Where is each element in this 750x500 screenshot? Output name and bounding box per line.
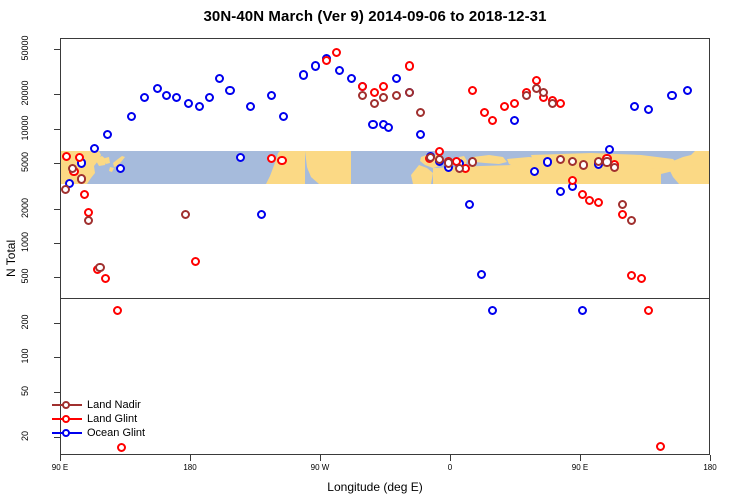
threshold-divider-line	[61, 298, 709, 299]
data-point	[568, 176, 577, 185]
x-axis-tick	[60, 455, 61, 461]
data-point	[585, 196, 594, 205]
x-axis-tick-label: 90 E	[550, 463, 610, 472]
data-point	[578, 306, 587, 315]
data-point	[644, 105, 653, 114]
data-point	[195, 102, 204, 111]
data-point	[358, 82, 367, 91]
x-axis-tick	[320, 455, 321, 461]
y-axis-label: N Total	[4, 239, 18, 276]
data-point	[61, 185, 70, 194]
y-axis-tick	[54, 94, 60, 95]
data-point	[568, 157, 577, 166]
data-point	[379, 82, 388, 91]
data-point	[335, 66, 344, 75]
data-point	[594, 198, 603, 207]
data-point	[322, 56, 331, 65]
legend-marker-icon	[52, 413, 82, 425]
legend-marker-icon	[52, 399, 82, 411]
y-axis-tick	[54, 243, 60, 244]
data-point	[488, 116, 497, 125]
data-point	[416, 108, 425, 117]
data-point	[103, 130, 112, 139]
data-point	[80, 190, 89, 199]
data-point	[358, 91, 367, 100]
data-point	[435, 155, 444, 164]
data-point	[510, 116, 519, 125]
data-point	[488, 306, 497, 315]
data-point	[172, 93, 181, 102]
data-point	[556, 187, 565, 196]
data-point	[140, 93, 149, 102]
data-point	[77, 174, 86, 183]
data-point	[618, 200, 627, 209]
data-point	[127, 112, 136, 121]
data-point	[116, 164, 125, 173]
data-point	[215, 74, 224, 83]
plot-area	[61, 39, 709, 454]
chart-page: 30N-40N March (Ver 9) 2014-09-06 to 2018…	[0, 0, 750, 500]
x-axis-tick-label: 180	[160, 463, 220, 472]
data-point	[405, 88, 414, 97]
data-point	[267, 91, 276, 100]
data-point	[627, 271, 636, 280]
y-axis-tick-label: 50000	[20, 23, 30, 73]
y-axis-tick	[54, 49, 60, 50]
y-axis-tick-label: 500	[20, 251, 30, 301]
data-point	[311, 61, 320, 70]
plot-frame	[60, 38, 710, 455]
data-point	[205, 93, 214, 102]
data-point	[347, 74, 356, 83]
data-point	[637, 274, 646, 283]
data-point	[618, 210, 627, 219]
data-point	[162, 91, 171, 100]
data-point	[548, 99, 557, 108]
y-axis-tick	[54, 392, 60, 393]
data-point	[468, 86, 477, 95]
legend-marker-icon	[52, 427, 82, 439]
data-point	[465, 200, 474, 209]
chart-title: 30N-40N March (Ver 9) 2014-09-06 to 2018…	[0, 8, 750, 25]
data-point	[379, 93, 388, 102]
data-point	[477, 270, 486, 279]
data-point	[522, 91, 531, 100]
y-axis-tick	[54, 129, 60, 130]
data-point	[236, 153, 245, 162]
data-point	[455, 164, 464, 173]
y-axis-tick	[54, 209, 60, 210]
data-point	[656, 442, 665, 451]
data-point	[368, 120, 377, 129]
data-point	[480, 108, 489, 117]
x-axis-tick	[580, 455, 581, 461]
legend-label: Ocean Glint	[87, 427, 145, 439]
legend-label: Land Nadir	[87, 399, 141, 411]
y-axis-tick	[54, 357, 60, 358]
data-point	[279, 112, 288, 121]
data-point	[556, 99, 565, 108]
legend-item-land-nadir: Land Nadir	[52, 398, 145, 412]
data-point	[543, 157, 552, 166]
data-point	[181, 210, 190, 219]
x-axis-tick-label: 90 E	[30, 463, 90, 472]
data-point	[644, 306, 653, 315]
data-point	[444, 158, 453, 167]
legend: Land NadirLand GlintOcean Glint	[52, 398, 145, 440]
data-point	[667, 91, 676, 100]
data-point	[683, 86, 692, 95]
x-axis-tick	[450, 455, 451, 461]
data-point	[184, 99, 193, 108]
y-axis-tick	[54, 163, 60, 164]
y-axis-tick-label: 50	[20, 366, 30, 416]
data-point	[500, 102, 509, 111]
data-point	[225, 86, 234, 95]
legend-item-ocean-glint: Ocean Glint	[52, 426, 145, 440]
data-point	[332, 48, 341, 57]
y-axis-tick	[54, 323, 60, 324]
y-axis-tick-label: 20	[20, 411, 30, 461]
data-point	[468, 157, 477, 166]
data-point	[630, 102, 639, 111]
data-point	[68, 164, 77, 173]
data-point	[191, 257, 200, 266]
data-point	[610, 163, 619, 172]
y-axis-tick	[54, 277, 60, 278]
legend-label: Land Glint	[87, 413, 137, 425]
data-point	[384, 123, 393, 132]
legend-item-land-glint: Land Glint	[52, 412, 145, 426]
data-point	[627, 216, 636, 225]
data-point	[392, 91, 401, 100]
data-point	[370, 99, 379, 108]
data-point	[370, 88, 379, 97]
x-axis-tick	[710, 455, 711, 461]
data-point	[95, 263, 104, 272]
data-point	[405, 61, 414, 70]
x-axis-tick	[190, 455, 191, 461]
x-axis-tick-label: 0	[420, 463, 480, 472]
data-point	[117, 443, 126, 452]
data-point	[392, 74, 401, 83]
data-point	[246, 102, 255, 111]
x-axis-label: Longitude (deg E)	[0, 480, 750, 494]
data-point	[101, 274, 110, 283]
data-point	[299, 70, 308, 79]
data-point	[113, 306, 122, 315]
x-axis-tick-label: 90 W	[290, 463, 350, 472]
data-point	[257, 210, 266, 219]
data-point	[510, 99, 519, 108]
data-point	[277, 156, 286, 165]
data-point	[416, 130, 425, 139]
data-point	[84, 216, 93, 225]
x-axis-tick-label: 180	[680, 463, 740, 472]
data-point	[153, 84, 162, 93]
y-axis-tick-label: 5000	[20, 137, 30, 187]
